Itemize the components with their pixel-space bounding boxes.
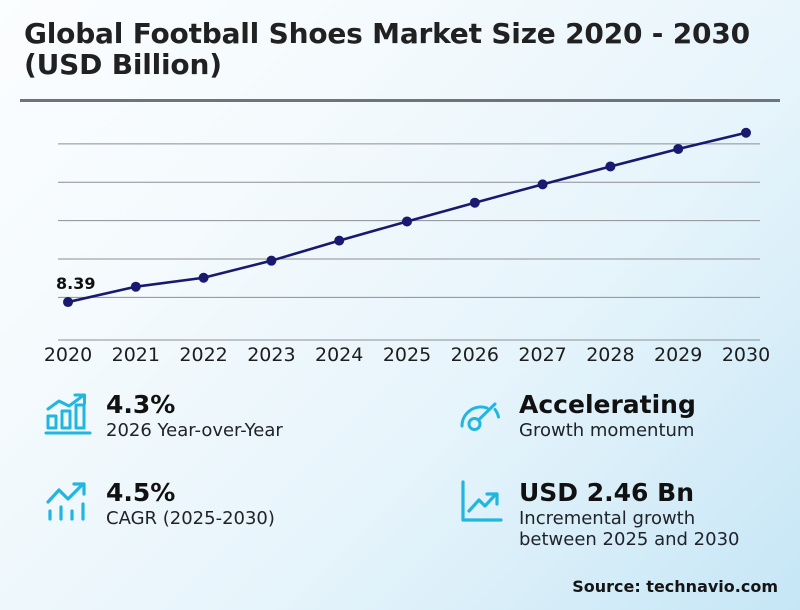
stat-label: 2026 Year-over-Year	[106, 420, 283, 442]
x-axis-tick: 2022	[179, 344, 227, 366]
stat-text: 4.5% CAGR (2025-2030)	[106, 478, 275, 529]
axis-trending-up-icon	[457, 478, 505, 526]
x-axis-tick: 2020	[44, 344, 92, 366]
data-point-marker	[334, 236, 344, 246]
data-point-marker	[131, 282, 141, 292]
data-point-marker	[199, 273, 209, 283]
line-chart: 2020202120222023202420252026202720282029…	[0, 104, 800, 370]
stat-card-incremental: USD 2.46 Bn Incremental growth between 2…	[457, 478, 739, 551]
x-axis-tick: 2021	[112, 344, 160, 366]
data-point-label: 8.39	[56, 274, 95, 293]
data-point-marker	[538, 179, 548, 189]
stats-grid: 4.3% 2026 Year-over-Year Accelerating Gr…	[0, 382, 800, 562]
title-divider	[20, 99, 780, 102]
data-point-marker	[266, 256, 276, 266]
x-axis-tick: 2029	[654, 344, 702, 366]
page-title: Global Football Shoes Market Size 2020 -…	[24, 18, 784, 81]
stat-label: Growth momentum	[519, 420, 696, 442]
speedometer-icon	[457, 390, 505, 438]
bar-chart-growth-icon	[44, 390, 92, 438]
stat-label: CAGR (2025-2030)	[106, 508, 275, 530]
title-block: Global Football Shoes Market Size 2020 -…	[24, 18, 784, 81]
x-axis-tick: 2025	[383, 344, 431, 366]
stat-card-momentum: Accelerating Growth momentum	[457, 390, 696, 441]
stat-text: Accelerating Growth momentum	[519, 390, 696, 441]
stat-value: 4.5%	[106, 479, 275, 507]
gridlines	[58, 144, 760, 340]
stat-value: Accelerating	[519, 391, 696, 419]
trending-up-bars-icon	[44, 478, 92, 526]
stat-card-yoy: 4.3% 2026 Year-over-Year	[44, 390, 283, 441]
data-point-marker	[470, 198, 480, 208]
x-axis-tick: 2023	[247, 344, 295, 366]
source-note: Source: technavio.com	[572, 577, 778, 596]
data-point-marker	[741, 128, 751, 138]
data-point-marker	[605, 161, 615, 171]
x-axis-tick: 2027	[518, 344, 566, 366]
stat-value: USD 2.46 Bn	[519, 479, 739, 507]
data-point-marker	[673, 144, 683, 154]
stat-text: 4.3% 2026 Year-over-Year	[106, 390, 283, 441]
stat-value: 4.3%	[106, 391, 283, 419]
x-axis-tick: 2028	[586, 344, 634, 366]
stat-text: USD 2.46 Bn Incremental growth between 2…	[519, 478, 739, 551]
x-axis-tick: 2024	[315, 344, 363, 366]
data-point-marker	[63, 297, 73, 307]
infographic-root: Global Football Shoes Market Size 2020 -…	[0, 0, 800, 610]
chart-plot-svg	[0, 104, 800, 370]
stat-label: Incremental growth between 2025 and 2030	[519, 508, 739, 552]
stat-card-cagr: 4.5% CAGR (2025-2030)	[44, 478, 275, 529]
data-point-marker	[402, 216, 412, 226]
x-axis-tick: 2026	[451, 344, 499, 366]
x-axis-tick: 2030	[722, 344, 770, 366]
x-axis-labels: 2020202120222023202420252026202720282029…	[0, 340, 800, 370]
series-markers	[63, 128, 751, 307]
